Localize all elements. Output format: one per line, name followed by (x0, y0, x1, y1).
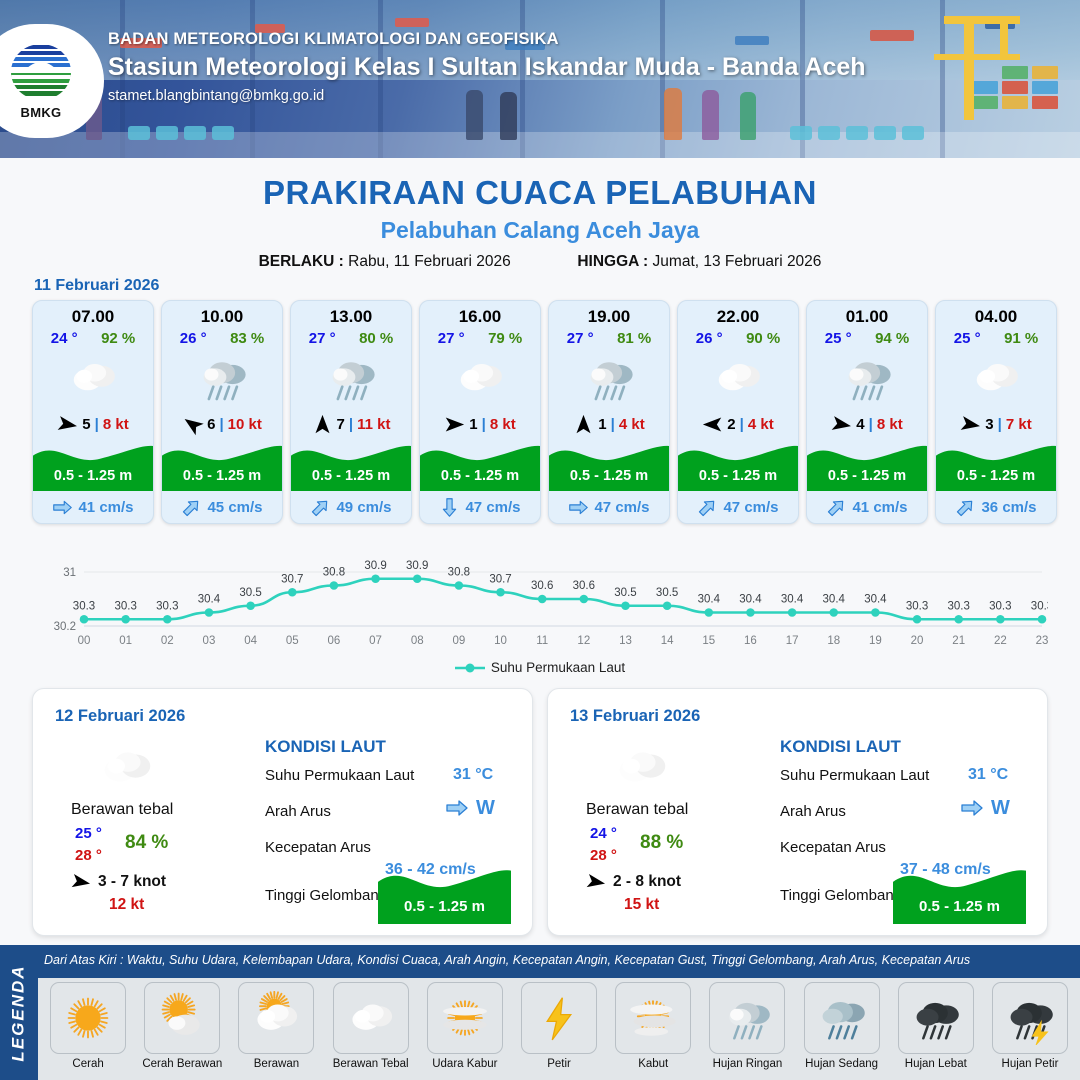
legend-icon-box (992, 982, 1068, 1054)
berawan-tebal-icon (610, 737, 672, 799)
current-direction-icon (568, 497, 589, 518)
card-weather-icon (162, 347, 282, 409)
legend-item-label: Petir (547, 1058, 571, 1070)
card-humidity: 92 % (101, 330, 135, 347)
legend-item-label: Kabut (638, 1058, 668, 1070)
card-wave-block: 0.5 - 1.25 m (33, 439, 153, 491)
sea-condition-title: KONDISI LAUT (265, 737, 386, 757)
card-time: 01.00 (807, 301, 927, 327)
page-subtitle: Pelabuhan Calang Aceh Jaya (0, 217, 1080, 244)
data-label: 30.5 (614, 587, 636, 599)
card-time: 22.00 (678, 301, 798, 327)
agency-name: BADAN METEOROLOGI KLIMATOLOGI DAN GEOFIS… (108, 30, 866, 49)
hujan-ringan-icon (323, 350, 379, 406)
card-wind-row: 5 | 8 kt (33, 409, 153, 439)
wind-direction-icon (69, 870, 92, 893)
header-text-block: BADAN METEOROLOGI KLIMATOLOGI DAN GEOFIS… (108, 30, 866, 104)
x-tick-label: 09 (452, 635, 465, 647)
card-time: 16.00 (420, 301, 540, 327)
data-point (288, 588, 297, 597)
data-label: 30.9 (364, 560, 386, 572)
legend-icon-box (144, 982, 220, 1054)
data-point (413, 574, 422, 583)
wind-direction-icon (830, 412, 854, 436)
data-point (663, 601, 672, 610)
valid-to-label: HINGGA : (577, 253, 648, 270)
card-wind-dir-value: 1 (598, 416, 606, 433)
panel-date: 12 Februari 2026 (55, 707, 185, 726)
forecast-card-row: 07.00 24 ° 92 % 5 | 8 kt 0.5 - 1.25 m 41… (32, 300, 1057, 524)
current-speed-label: Kecepatan Arus (265, 839, 371, 856)
petir-icon (532, 991, 586, 1045)
x-tick-label: 14 (661, 635, 674, 647)
card-wave-block: 0.5 - 1.25 m (420, 439, 540, 491)
wind-direction-icon (56, 412, 80, 436)
card-wind-speed: 7 kt (1006, 416, 1032, 433)
current-dir-label: Arah Arus (265, 803, 331, 820)
card-current-row: 45 cm/s (162, 491, 282, 523)
x-tick-label: 19 (869, 635, 882, 647)
data-point (121, 615, 130, 624)
data-point (913, 615, 922, 624)
panel-wave-block: 0.5 - 1.25 m (378, 862, 511, 924)
data-label: 30.3 (73, 600, 95, 612)
legend-item-label: Hujan Ringan (713, 1058, 783, 1070)
cerah-icon (61, 991, 115, 1045)
legend-item: Kabut (608, 982, 698, 1070)
daily-forecast-panel[interactable]: 13 Februari 2026 Berawan tebal 24 ° 28 °… (547, 688, 1048, 936)
bmkg-emblem-icon (10, 43, 72, 103)
card-current-row: 47 cm/s (549, 491, 669, 523)
card-wind-dir-value: 2 (727, 416, 735, 433)
current-direction-icon (439, 497, 460, 518)
data-point (205, 608, 214, 617)
x-tick-label: 00 (78, 635, 91, 647)
data-point (621, 601, 630, 610)
data-label: 30.8 (448, 567, 470, 579)
legend-item-label: Cerah (72, 1058, 103, 1070)
hujan-ringan-icon (581, 350, 637, 406)
separator: | (611, 416, 615, 433)
legend-note: Dari Atas Kiri : Waktu, Suhu Udara, Kele… (44, 953, 1074, 967)
wind-direction-icon (444, 414, 465, 435)
panel-wind-row: 3 - 7 knot (71, 872, 166, 892)
wind-direction-icon (702, 414, 723, 435)
card-temperature: 25 ° (954, 330, 981, 347)
page-title: PRAKIRAAN CUACA PELABUHAN (0, 174, 1080, 212)
cerah-berawan-icon (155, 991, 209, 1045)
card-time: 07.00 (33, 301, 153, 327)
data-label: 30.4 (739, 594, 762, 606)
forecast-card[interactable]: 19.00 27 ° 81 % 1 | 4 kt 0.5 - 1.25 m 47… (548, 300, 670, 524)
panel-weather-icon (95, 737, 157, 804)
card-time: 04.00 (936, 301, 1056, 327)
card-wind-row: 3 | 7 kt (936, 409, 1056, 439)
card-wind-dir-value: 3 (985, 416, 993, 433)
hujan-ringan-icon (720, 991, 774, 1045)
legend-icon-row: Cerah Cerah Berawan Berawan Berawan Teba… (38, 978, 1080, 1080)
data-point (496, 588, 505, 597)
data-label: 30.4 (698, 594, 721, 606)
current-dir-block: W (445, 796, 495, 820)
legend-item: Hujan Petir (985, 982, 1075, 1070)
separator: | (95, 416, 99, 433)
card-current-row: 41 cm/s (33, 491, 153, 523)
legend-item-label: Berawan (254, 1058, 299, 1070)
berawan-icon (249, 991, 303, 1045)
card-wave-height: 0.5 - 1.25 m (162, 468, 282, 484)
data-label: 30.4 (781, 594, 804, 606)
card-current-row: 49 cm/s (291, 491, 411, 523)
x-tick-label: 11 (536, 635, 548, 647)
card-wind-speed: 4 kt (619, 416, 645, 433)
x-tick-label: 13 (619, 635, 632, 647)
data-label: 30.4 (864, 594, 887, 606)
data-point (996, 615, 1005, 624)
hujan-sedang-icon (815, 991, 869, 1045)
x-tick-label: 10 (494, 635, 507, 647)
panel-temp-max: 28 ° (590, 847, 617, 864)
crane-icon (914, 8, 1034, 128)
sst-label: Suhu Permukaan Laut (265, 767, 414, 784)
valid-to-value: Jumat, 13 Februari 2026 (653, 253, 822, 270)
separator: | (869, 416, 873, 433)
x-tick-label: 01 (119, 635, 132, 647)
x-tick-label: 03 (203, 635, 216, 647)
current-direction-icon (52, 497, 73, 518)
panel-gust: 15 kt (624, 896, 659, 914)
card-temperature: 25 ° (825, 330, 852, 347)
card-temperature: 27 ° (309, 330, 336, 347)
legend-item-label: Cerah Berawan (142, 1058, 222, 1070)
card-current-speed: 49 cm/s (336, 499, 391, 516)
panel-wave-block: 0.5 - 1.25 m (893, 862, 1026, 924)
forecast-card[interactable]: 22.00 26 ° 90 % 2 | 4 kt 0.5 - 1.25 m 47… (677, 300, 799, 524)
card-weather-icon (33, 347, 153, 409)
data-point (1038, 615, 1047, 624)
card-current-row: 47 cm/s (420, 491, 540, 523)
berawan-tebal-icon (968, 350, 1024, 406)
forecast-card[interactable]: 04.00 25 ° 91 % 3 | 7 kt 0.5 - 1.25 m 36… (935, 300, 1057, 524)
data-label: 30.3 (156, 600, 178, 612)
udara-kabur-icon (438, 991, 492, 1045)
card-wind-dir-value: 7 (337, 416, 345, 433)
data-point (246, 601, 255, 610)
y-tick-label: 31 (63, 567, 76, 579)
current-direction-icon (177, 492, 207, 522)
station-name: Stasiun Meteorologi Kelas I Sultan Iskan… (108, 53, 866, 82)
data-point (704, 608, 713, 617)
x-tick-label: 04 (244, 635, 257, 647)
x-tick-label: 16 (744, 635, 757, 647)
card-humidity: 94 % (875, 330, 909, 347)
card-wave-height: 0.5 - 1.25 m (291, 468, 411, 484)
forecast-card[interactable]: 13.00 27 ° 80 % 7 | 11 kt 0.5 - 1.25 m 4… (290, 300, 412, 524)
legend-item: Hujan Lebat (891, 982, 981, 1070)
forecast-card[interactable]: 01.00 25 ° 94 % 4 | 8 kt 0.5 - 1.25 m 41… (806, 300, 928, 524)
card-humidity: 80 % (359, 330, 393, 347)
card-wind-row: 6 | 10 kt (162, 409, 282, 439)
card-humidity: 83 % (230, 330, 264, 347)
data-point (871, 608, 880, 617)
data-label: 30.6 (531, 580, 553, 592)
current-direction-icon (693, 492, 723, 522)
panel-condition: Berawan tebal (71, 801, 173, 819)
wind-direction-icon (573, 414, 594, 435)
container-icon (1032, 96, 1058, 109)
legend-icon-box (521, 982, 597, 1054)
panel-humidity: 88 % (640, 832, 683, 854)
separator: | (349, 416, 353, 433)
card-weather-icon (420, 347, 540, 409)
sst-value: 31 °C (968, 766, 1008, 784)
card-temperature: 27 ° (567, 330, 594, 347)
card-temperature: 26 ° (696, 330, 723, 347)
data-point (80, 615, 89, 624)
berawan-tebal-icon (710, 350, 766, 406)
panel-wind-range: 2 - 8 knot (613, 873, 681, 891)
data-label: 30.4 (823, 594, 846, 606)
card-wave-height: 0.5 - 1.25 m (33, 468, 153, 484)
bmkg-logo-text: BMKG (21, 105, 62, 120)
x-tick-label: 07 (369, 635, 382, 647)
y-tick-label: 30.2 (54, 621, 76, 633)
data-point (829, 608, 838, 617)
card-weather-icon (807, 347, 927, 409)
data-label: 30.3 (989, 600, 1011, 612)
container-icon (1032, 81, 1058, 94)
card-time: 13.00 (291, 301, 411, 327)
legend-item: Berawan Tebal (326, 982, 416, 1070)
x-tick-label: 17 (786, 635, 799, 647)
legend-item: Hujan Ringan (702, 982, 792, 1070)
legend-icon-box (615, 982, 691, 1054)
data-point (538, 595, 547, 604)
legend-item-label: Udara Kabur (432, 1058, 497, 1070)
data-label: 30.3 (1031, 600, 1048, 612)
x-tick-label: 12 (577, 635, 590, 647)
legend-item-label: Hujan Petir (1002, 1058, 1059, 1070)
berawan-tebal-icon (65, 350, 121, 406)
kabut-icon (626, 991, 680, 1045)
separator: | (740, 416, 744, 433)
valid-from-label: BERLAKU : (259, 253, 344, 270)
data-label: 30.7 (489, 573, 511, 585)
card-time: 19.00 (549, 301, 669, 327)
data-label: 30.6 (573, 580, 595, 592)
legend-icon-box (238, 982, 314, 1054)
legend-icon-box (804, 982, 880, 1054)
x-tick-label: 18 (827, 635, 840, 647)
panel-date: 13 Februari 2026 (570, 707, 700, 726)
card-weather-icon (291, 347, 411, 409)
data-point (455, 581, 464, 590)
card-wind-row: 1 | 8 kt (420, 409, 540, 439)
data-point (330, 581, 339, 590)
data-label: 30.4 (198, 594, 221, 606)
card-wave-block: 0.5 - 1.25 m (162, 439, 282, 491)
card-humidity: 81 % (617, 330, 651, 347)
page-header: BMKG BADAN METEOROLOGI KLIMATOLOGI DAN G… (0, 0, 1080, 158)
current-speed-label: Kecepatan Arus (780, 839, 886, 856)
daily-panel-row: 12 Februari 2026 Berawan tebal 25 ° 28 °… (32, 688, 1048, 936)
legend-item-label: Hujan Sedang (805, 1058, 878, 1070)
legend-side-title: LEGENDA (9, 964, 29, 1061)
forecast-card[interactable]: 07.00 24 ° 92 % 5 | 8 kt 0.5 - 1.25 m 41… (32, 300, 154, 524)
chart-legend: Suhu Permukaan Laut (0, 660, 1080, 675)
station-email: stamet.blangbintang@bmkg.go.id (108, 88, 866, 104)
data-point (954, 615, 963, 624)
data-label: 30.5 (239, 587, 261, 599)
current-dir-label: Arah Arus (780, 803, 846, 820)
hujan-lebat-icon (909, 991, 963, 1045)
card-humidity: 90 % (746, 330, 780, 347)
card-humidity: 91 % (1004, 330, 1038, 347)
card-wave-block: 0.5 - 1.25 m (291, 439, 411, 491)
card-current-speed: 47 cm/s (723, 499, 778, 516)
card-current-speed: 41 cm/s (852, 499, 907, 516)
card-temperature: 26 ° (180, 330, 207, 347)
panel-temp-min: 25 ° (75, 825, 102, 842)
legend-icon-box (898, 982, 974, 1054)
card-wave-height: 0.5 - 1.25 m (936, 468, 1056, 484)
x-tick-label: 20 (911, 635, 924, 647)
data-label: 30.3 (948, 600, 970, 612)
sst-line-chart: 3130.230.30030.30130.30230.40330.50430.7… (32, 556, 1048, 676)
panel-wave-value: 0.5 - 1.25 m (378, 898, 511, 915)
panel-humidity: 84 % (125, 832, 168, 854)
legend-item-label: Hujan Lebat (905, 1058, 967, 1070)
card-humidity: 79 % (488, 330, 522, 347)
card-wind-speed: 8 kt (103, 416, 129, 433)
card-wind-speed: 10 kt (228, 416, 262, 433)
ship-icon (395, 18, 429, 27)
wave-label: Tinggi Gelombang (265, 887, 387, 904)
x-tick-label: 08 (411, 635, 424, 647)
legend-item: Cerah Berawan (137, 982, 227, 1070)
current-dir-block: W (960, 796, 1010, 820)
card-wave-height: 0.5 - 1.25 m (807, 468, 927, 484)
legend-item-label: Berawan Tebal (333, 1058, 409, 1070)
current-direction-icon (445, 796, 469, 820)
card-current-row: 47 cm/s (678, 491, 798, 523)
legend-item: Udara Kabur (420, 982, 510, 1070)
daily-forecast-panel[interactable]: 12 Februari 2026 Berawan tebal 25 ° 28 °… (32, 688, 533, 936)
hujan-ringan-icon (839, 350, 895, 406)
x-tick-label: 15 (702, 635, 715, 647)
card-weather-icon (936, 347, 1056, 409)
forecast-card[interactable]: 16.00 27 ° 79 % 1 | 8 kt 0.5 - 1.25 m 47… (419, 300, 541, 524)
legend-item: Cerah (43, 982, 133, 1070)
card-wind-dir-value: 5 (82, 416, 90, 433)
card-wave-block: 0.5 - 1.25 m (549, 439, 669, 491)
card-wave-height: 0.5 - 1.25 m (678, 468, 798, 484)
title-block: PRAKIRAAN CUACA PELABUHAN Pelabuhan Cala… (0, 158, 1080, 271)
card-wind-dir-value: 1 (469, 416, 477, 433)
current-direction-icon (960, 796, 984, 820)
card-wind-speed: 8 kt (877, 416, 903, 433)
card-time: 10.00 (162, 301, 282, 327)
x-tick-label: 21 (952, 635, 965, 647)
card-wind-row: 2 | 4 kt (678, 409, 798, 439)
panel-weather-icon (610, 737, 672, 804)
card-current-row: 41 cm/s (807, 491, 927, 523)
current-direction-icon (822, 492, 852, 522)
card-wave-block: 0.5 - 1.25 m (807, 439, 927, 491)
separator: | (998, 416, 1002, 433)
forecast-date-label: 11 Februari 2026 (34, 277, 159, 295)
card-current-row: 36 cm/s (936, 491, 1056, 523)
panel-gust: 12 kt (109, 896, 144, 914)
current-direction-icon (306, 492, 336, 522)
separator: | (482, 416, 486, 433)
legend-icon-box (333, 982, 409, 1054)
legend-icon-box (709, 982, 785, 1054)
card-wind-dir-value: 6 (207, 416, 215, 433)
sea-condition-title: KONDISI LAUT (780, 737, 901, 757)
current-dir-value: W (991, 797, 1010, 820)
panel-temp-min: 24 ° (590, 825, 617, 842)
card-current-speed: 47 cm/s (465, 499, 520, 516)
panel-temp-max: 28 ° (75, 847, 102, 864)
wind-direction-icon (178, 409, 207, 438)
berawan-tebal-icon (95, 737, 157, 799)
card-wind-dir-value: 4 (856, 416, 864, 433)
separator: | (219, 416, 223, 433)
wind-direction-icon (584, 870, 607, 893)
card-wave-height: 0.5 - 1.25 m (549, 468, 669, 484)
data-label: 30.3 (114, 600, 136, 612)
data-point (580, 595, 589, 604)
data-label: 30.3 (906, 600, 928, 612)
card-wind-row: 4 | 8 kt (807, 409, 927, 439)
wind-direction-icon (959, 412, 983, 436)
sst-value: 31 °C (453, 766, 493, 784)
current-direction-icon (951, 492, 981, 522)
card-wind-speed: 8 kt (490, 416, 516, 433)
berawan-tebal-icon (344, 991, 398, 1045)
card-weather-icon (678, 347, 798, 409)
legend-item: Berawan (231, 982, 321, 1070)
card-wave-height: 0.5 - 1.25 m (420, 468, 540, 484)
card-temperature: 24 ° (51, 330, 78, 347)
data-label: 30.9 (406, 560, 428, 572)
legend-side-banner: LEGENDA (0, 945, 38, 1080)
wind-direction-icon (312, 414, 333, 435)
card-temperature: 27 ° (438, 330, 465, 347)
card-wave-block: 0.5 - 1.25 m (936, 439, 1056, 491)
card-current-speed: 36 cm/s (981, 499, 1036, 516)
cargo-ship-icon (870, 30, 914, 41)
forecast-card[interactable]: 10.00 26 ° 83 % 6 | 10 kt 0.5 - 1.25 m 4… (161, 300, 283, 524)
card-wind-row: 1 | 4 kt (549, 409, 669, 439)
panel-wind-range: 3 - 7 knot (98, 873, 166, 891)
data-label: 30.7 (281, 573, 303, 585)
x-tick-label: 05 (286, 635, 299, 647)
hujan-petir-icon (1003, 991, 1057, 1045)
chart-legend-label: Suhu Permukaan Laut (491, 660, 625, 675)
legend-icon-box (50, 982, 126, 1054)
data-label: 30.5 (656, 587, 678, 599)
validity-line: BERLAKU : Rabu, 11 Februari 2026 HINGGA … (0, 253, 1080, 271)
sst-label: Suhu Permukaan Laut (780, 767, 929, 784)
panel-condition: Berawan tebal (586, 801, 688, 819)
wave-label: Tinggi Gelombang (780, 887, 902, 904)
legend-marker-icon (455, 662, 485, 674)
card-weather-icon (549, 347, 669, 409)
legend-item: Hujan Sedang (797, 982, 887, 1070)
data-label: 30.8 (323, 567, 345, 579)
